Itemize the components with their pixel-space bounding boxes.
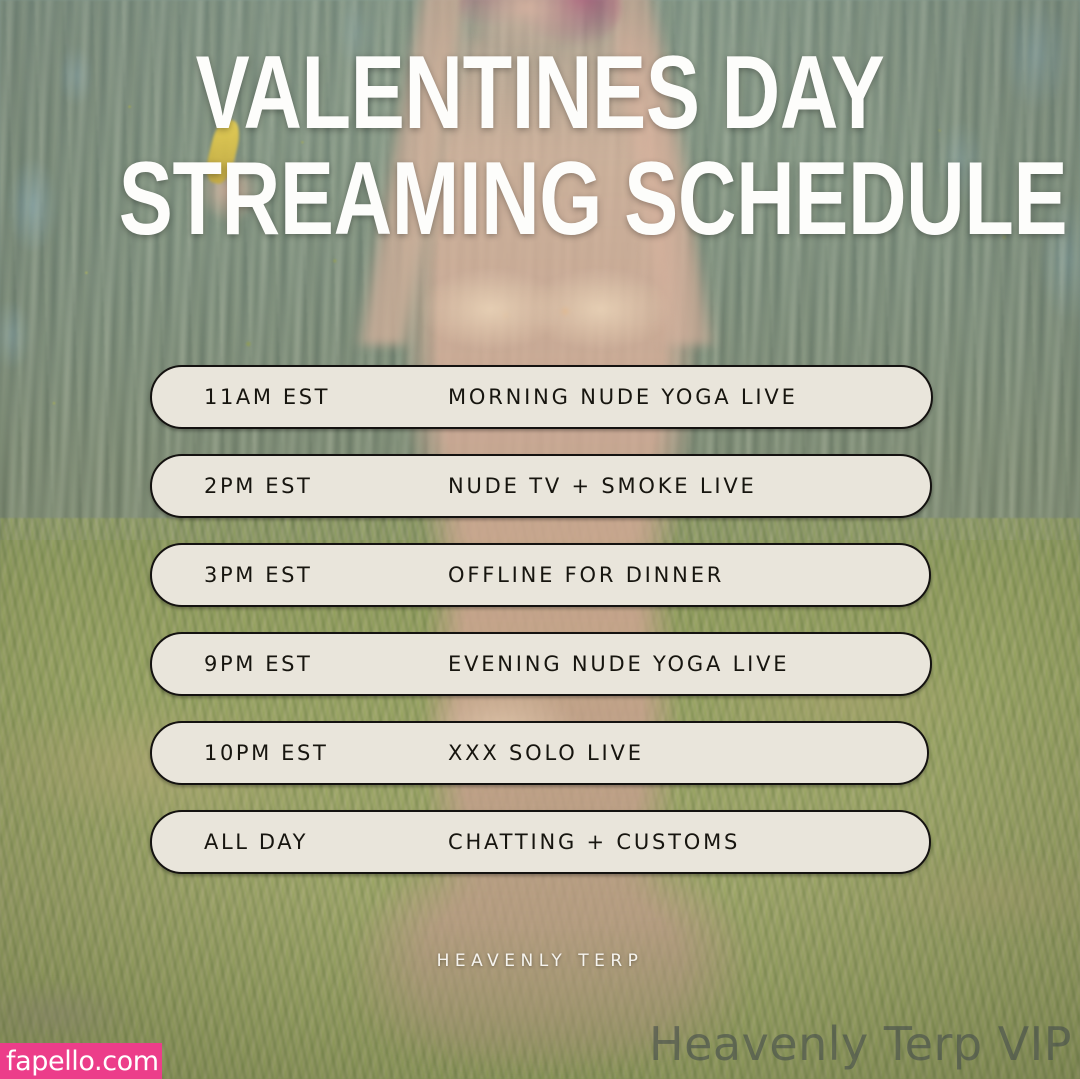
schedule-row: ALL DAY CHATTING + CUSTOMS xyxy=(150,810,931,874)
schedule-row-time: 11AM EST xyxy=(204,385,330,409)
creator-handle: HEAVENLY TERP xyxy=(0,951,1080,971)
schedule-row: 11AM EST MORNING NUDE YOGA LIVE xyxy=(150,365,933,429)
schedule-row-description: EVENING NUDE YOGA LIVE xyxy=(448,652,789,676)
schedule-row-description: XXX SOLO LIVE xyxy=(448,741,644,765)
schedule-row-time: 10PM EST xyxy=(204,741,328,765)
schedule-row: 10PM EST XXX SOLO LIVE xyxy=(150,721,929,785)
schedule-row-description: MORNING NUDE YOGA LIVE xyxy=(448,385,798,409)
schedule-row: 3PM EST OFFLINE FOR DINNER xyxy=(150,543,931,607)
site-watermark-label: fapello.com xyxy=(0,1048,159,1075)
schedule-row-description: CHATTING + CUSTOMS xyxy=(448,830,740,854)
title-line-two: STREAMING SCHEDULE xyxy=(119,150,961,250)
page-title: VALENTINES DAY STREAMING SCHEDULE xyxy=(0,44,1080,250)
schedule-row-time: 9PM EST xyxy=(204,652,312,676)
schedule-row-description: OFFLINE FOR DINNER xyxy=(448,563,724,587)
site-watermark-badge: fapello.com xyxy=(0,1043,162,1079)
schedule-row: 2PM EST NUDE TV + SMOKE LIVE xyxy=(150,454,932,518)
valentines-schedule-poster: VALENTINES DAY STREAMING SCHEDULE 11AM E… xyxy=(0,0,1080,1079)
schedule-row-time: ALL DAY xyxy=(204,830,308,854)
title-line-one: VALENTINES DAY xyxy=(119,44,961,144)
schedule-row: 9PM EST EVENING NUDE YOGA LIVE xyxy=(150,632,932,696)
vip-watermark: Heavenly Terp VIP xyxy=(649,1017,1072,1071)
schedule-row-time: 2PM EST xyxy=(204,474,312,498)
schedule-list: 11AM EST MORNING NUDE YOGA LIVE 2PM EST … xyxy=(150,365,933,874)
schedule-row-time: 3PM EST xyxy=(204,563,312,587)
schedule-row-description: NUDE TV + SMOKE LIVE xyxy=(448,474,757,498)
